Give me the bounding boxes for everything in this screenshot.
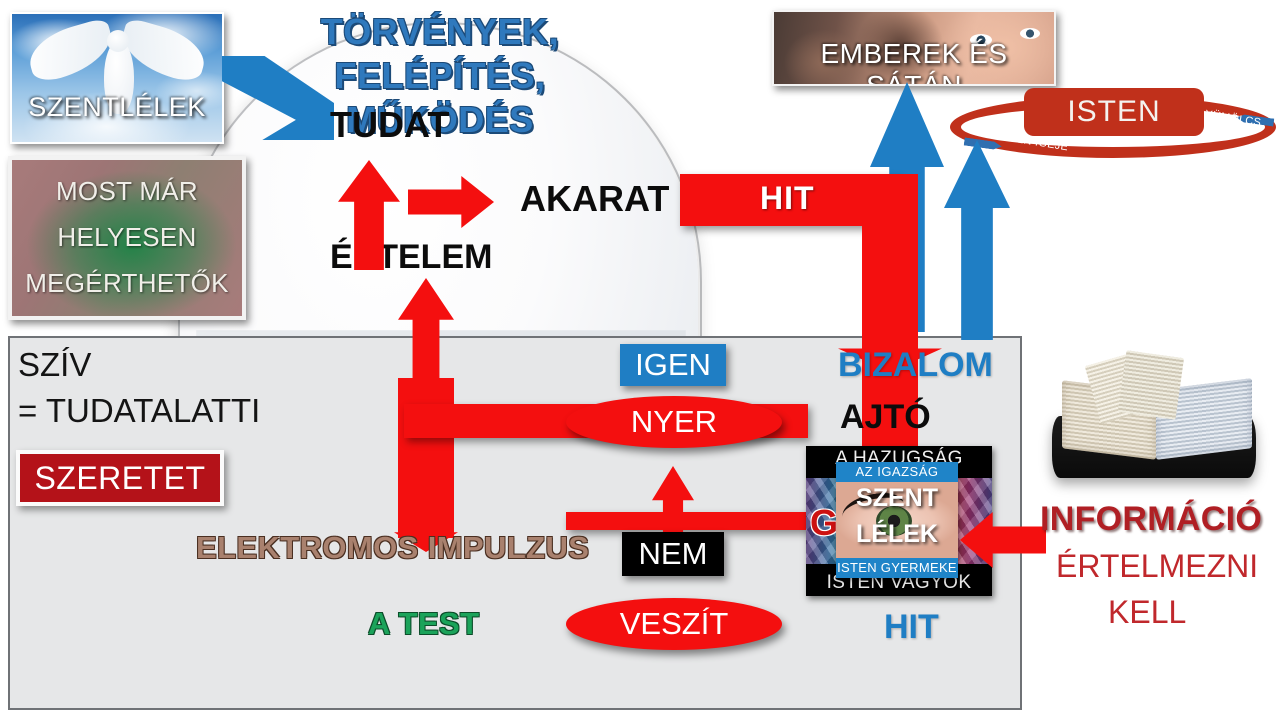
label-heart: SZÍV (18, 346, 91, 384)
holy-spirit-image: SZENTLÉLEK (10, 12, 224, 144)
dove-head-icon (107, 30, 129, 52)
bible-image (1048, 352, 1260, 492)
eye-card-top-bar: AZ IGAZSÁG (836, 462, 958, 482)
label-information: INFORMÁCIÓ (1040, 500, 1262, 539)
oval-win: NYER (566, 396, 782, 448)
eye-card-line-2: LÉLEK (836, 520, 958, 549)
label-faith-bottom: HIT (884, 608, 939, 647)
badge-love: SZERETET (16, 450, 224, 506)
people-and-satan-image: EMBEREK ÉS SÁTÁN (772, 10, 1056, 86)
chip-yes[interactable]: IGEN (620, 344, 726, 386)
label-subconscious: = TUDATALATTI (18, 392, 260, 430)
eye-card-line-1: SZENT (836, 484, 958, 513)
understand-line-2: HELYESEN (12, 214, 242, 260)
decision-route-horizontal-bottom (566, 512, 810, 530)
chip-no[interactable]: NEM (622, 532, 724, 576)
label-electric-impulse: ELEKTROMOS IMPULZUS (196, 530, 589, 566)
cycle-center-god: ISTEN (1024, 88, 1204, 136)
label-faith: HIT (760, 180, 815, 217)
label-must: KELL (1108, 594, 1186, 631)
faith-to-god-arrow (944, 140, 1010, 340)
slide-canvas: TÖRVÉNYEK, FELÉPÍTÉS, MŰKÖDÉS SZENTLÉLEK… (0, 0, 1280, 720)
label-trust: BIZALOM (838, 346, 993, 385)
eye-card-bottom-bar: ISTEN GYERMEKE (836, 558, 958, 578)
understand-line-3: MEGÉRTHETŐK (12, 260, 242, 306)
label-door: AJTÓ (840, 398, 931, 437)
holy-spirit-caption: SZENTLÉLEK (12, 92, 222, 123)
label-consciousness: TUDAT (330, 104, 449, 146)
people-and-satan-caption: EMBEREK ÉS SÁTÁN (774, 38, 1054, 86)
oval-lose: VESZÍT (566, 598, 782, 650)
god-cycle-diagram: SZERETET GYÜMÖLCS ISTEN IGÉJE ISTEN (950, 96, 1276, 158)
bible-page-raised-2 (1118, 350, 1184, 419)
label-interpret: ÉRTELMEZNI (1056, 548, 1258, 585)
label-the-body: A TEST (368, 606, 479, 642)
holy-spirit-eye-card: AZ IGAZSÁG SZENT LÉLEK ISTEN GYERMEKE (836, 462, 958, 578)
now-understandable-box: MOST MÁR HELYESEN MEGÉRTHETŐK (8, 156, 246, 320)
label-will: AKARAT (520, 178, 669, 220)
understand-line-1: MOST MÁR (12, 168, 242, 214)
